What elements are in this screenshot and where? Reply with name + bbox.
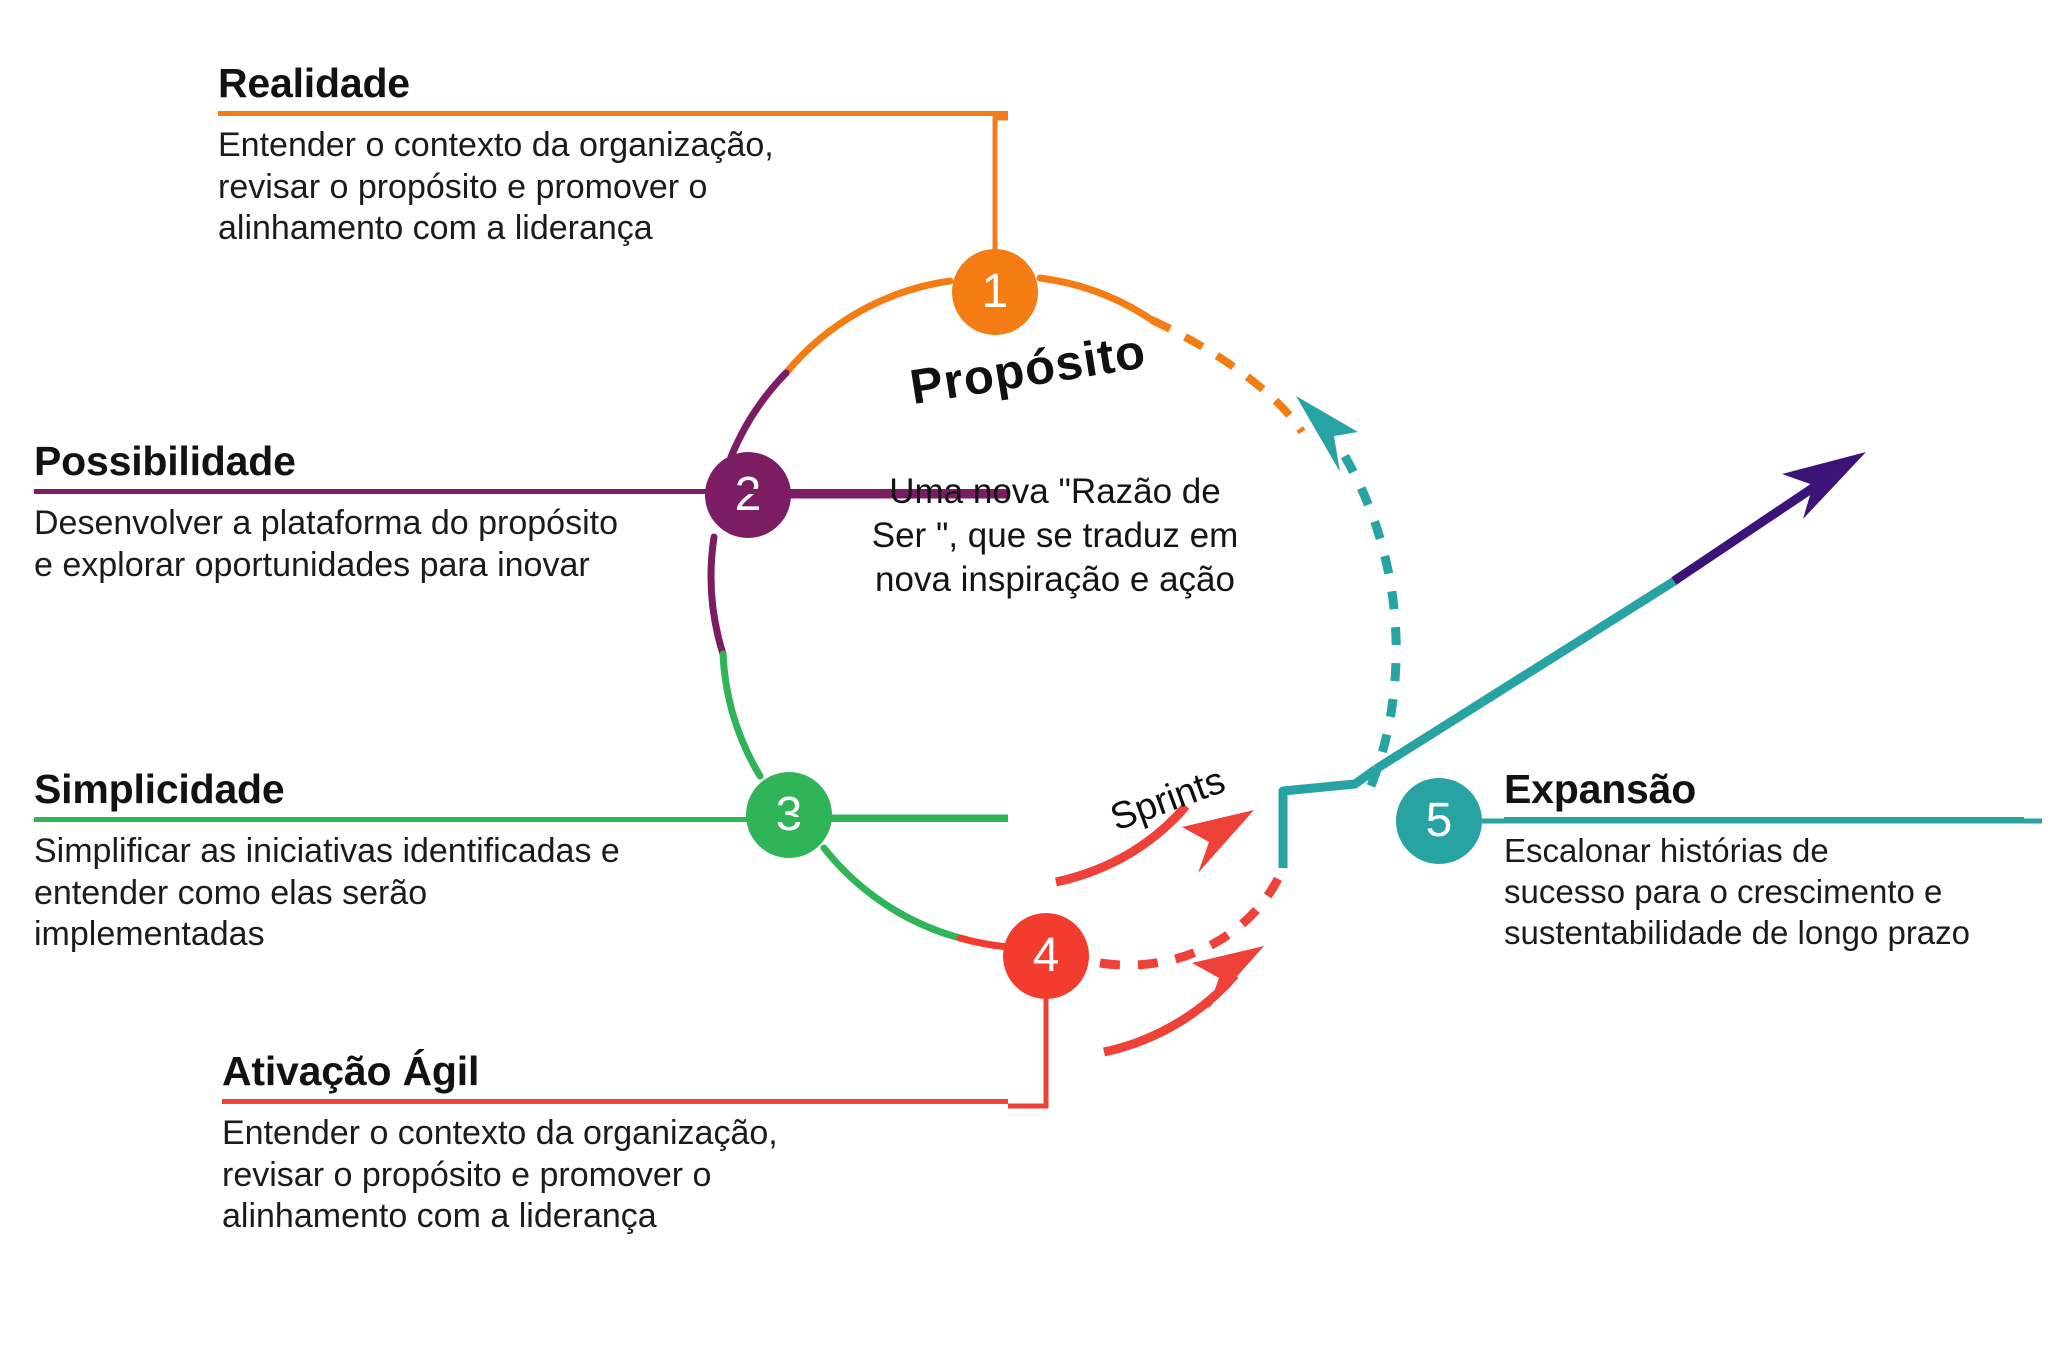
step-node-5-number: 5 — [1426, 797, 1453, 845]
ring-arc-2-green — [723, 654, 760, 776]
step-node-1-number: 1 — [982, 268, 1009, 316]
arrowhead-purple-icon — [1782, 452, 1866, 519]
diagram-canvas: 1 2 3 4 5 Realidade Entender o contexto … — [0, 0, 2048, 1365]
sprints-arrow-lower-shaft — [1104, 975, 1235, 1052]
ring-arc-top-right-orange — [1040, 278, 1152, 320]
step-rule-simplicidade — [34, 817, 1008, 822]
leader-line-ativacao — [1008, 997, 1046, 1106]
teal-step-path — [1283, 769, 1376, 868]
center-description: Uma nova "Razão de Ser ", que se traduz … — [845, 470, 1265, 602]
step-rule-realidade — [218, 111, 1008, 116]
step-label-simplicidade: Simplicidade Simplificar as iniciativas … — [34, 768, 1008, 955]
step-body-expansao: Escalonar histórias de sucesso para o cr… — [1504, 831, 2024, 954]
step-node-1[interactable]: 1 — [952, 249, 1038, 335]
dashed-arc-teal — [1340, 448, 1396, 786]
step-title-realidade: Realidade — [218, 62, 1008, 105]
step-rule-ativacao-agil — [222, 1099, 1008, 1104]
sprints-arrow-lower-head-icon — [1192, 946, 1264, 1009]
step-body-simplicidade: Simplificar as iniciativas identificadas… — [34, 831, 1008, 955]
step-title-expansao: Expansão — [1504, 768, 2024, 811]
step-node-4-number: 4 — [1033, 932, 1060, 980]
step-rule-expansao — [1504, 817, 2024, 822]
step-body-ativacao-agil: Entender o contexto da organização, revi… — [222, 1113, 1008, 1237]
step-label-ativacao-agil: Ativação Ágil Entender o contexto da org… — [222, 1050, 1008, 1237]
step-title-ativacao-agil: Ativação Ágil — [222, 1050, 1008, 1093]
dashed-arc-orange — [1152, 320, 1302, 432]
step-title-simplicidade: Simplicidade — [34, 768, 1008, 811]
sprints-arrow-upper-head-icon — [1182, 810, 1254, 873]
step-body-realidade: Entender o contexto da organização, revi… — [218, 125, 1008, 249]
step-node-4[interactable]: 4 — [1003, 913, 1089, 999]
step-label-realidade: Realidade Entender o contexto da organiz… — [218, 62, 1008, 249]
step-node-5[interactable]: 5 — [1396, 778, 1482, 864]
step-label-expansao: Expansão Escalonar histórias de sucesso … — [1504, 768, 2024, 954]
teal-growth-line — [1376, 580, 1676, 769]
